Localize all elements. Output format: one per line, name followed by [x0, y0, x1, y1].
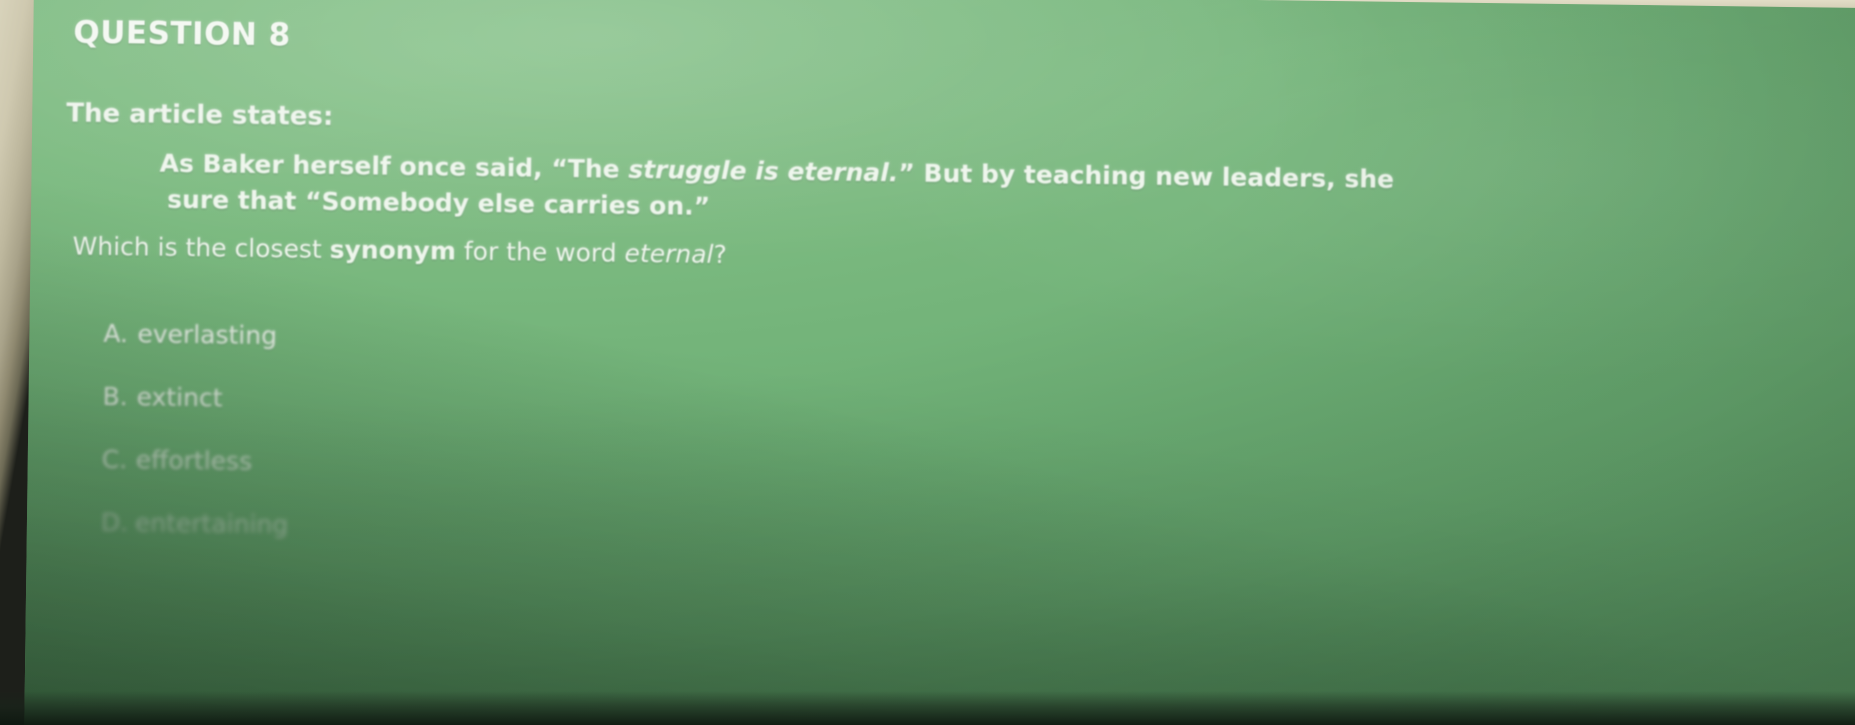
quote-line-1-part-a: As Baker herself once said, “The: [159, 149, 628, 184]
answer-options-list: A.everlasting B.extinct C.effortless D.e…: [43, 318, 1855, 560]
option-c-letter: C.: [102, 444, 136, 473]
prompt-part-c: ?: [713, 239, 727, 268]
quote-line-1-italic: struggle is eternal.: [628, 155, 898, 188]
answer-option-b[interactable]: B.extinct: [102, 381, 1855, 433]
quiz-screen: QUESTION 8 The article states: As Baker …: [24, 0, 1855, 725]
option-d-label: entertaining: [135, 508, 289, 539]
option-d-letter: D.: [101, 507, 135, 536]
question-stem: The article states:: [66, 98, 1855, 152]
question-prompt: Which is the closest synonym for the wor…: [72, 231, 1855, 284]
prompt-bold-synonym: synonym: [329, 234, 456, 265]
option-b-label: extinct: [136, 382, 222, 412]
answer-option-c[interactable]: C.effortless: [102, 444, 1855, 496]
answer-option-a[interactable]: A.everlasting: [103, 318, 1855, 370]
quote-line-2: sure that “Somebody else carries on.”: [167, 182, 1855, 241]
quote-line-1-part-b: ” But by teaching new leaders, she: [898, 158, 1394, 193]
option-a-label: everlasting: [137, 319, 277, 350]
prompt-part-b: for the word: [456, 236, 625, 267]
prompt-part-a: Which is the closest: [72, 231, 329, 263]
photo-of-screen: QUESTION 8 The article states: As Baker …: [0, 0, 1855, 725]
page-title: QUESTION 8: [73, 15, 1855, 75]
prompt-italic-eternal: eternal: [624, 238, 713, 268]
option-a-letter: A.: [103, 318, 137, 347]
answer-option-d[interactable]: D.entertaining: [101, 507, 1855, 559]
option-c-label: effortless: [136, 445, 253, 476]
option-b-letter: B.: [102, 381, 136, 410]
bottom-shadow: [0, 691, 1855, 725]
question-content: QUESTION 8 The article states: As Baker …: [42, 14, 1855, 594]
quote-block: As Baker herself once said, “The struggl…: [159, 146, 1855, 241]
